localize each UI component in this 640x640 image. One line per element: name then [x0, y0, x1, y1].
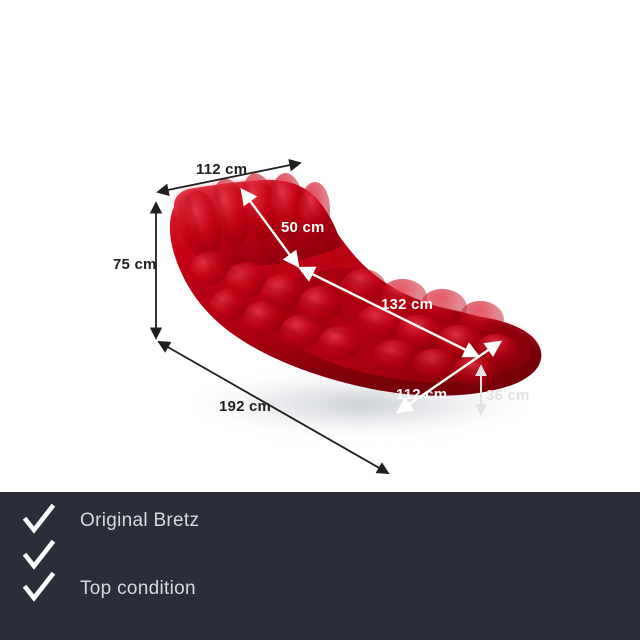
- checkmark-icon: [22, 540, 56, 574]
- product-listing-image: 112 cm 75 cm 192 cm 50 cm 132 cm 112 cm …: [0, 0, 640, 640]
- feature-item: Original Bretz: [22, 504, 199, 538]
- dimension-label-width-top: 112 cm: [196, 162, 247, 177]
- sofa-body: [170, 171, 541, 396]
- dimension-label-backrest: 50 cm: [281, 220, 325, 235]
- dimension-label-seat-width: 112 cm: [396, 387, 447, 402]
- feature-label: Top condition: [80, 578, 196, 600]
- dimension-label-length: 192 cm: [219, 399, 271, 414]
- dimension-label-seat-length: 132 cm: [381, 297, 433, 312]
- feature-label: Original Bretz: [80, 510, 199, 532]
- feature-item: Top condition: [22, 572, 196, 606]
- dimension-label-seat-height: 36 cm: [486, 388, 530, 403]
- checkmark-icon: [22, 572, 56, 606]
- feature-banner: Original Bretz Top condition: [0, 492, 640, 640]
- chaise-lounge-illustration: [0, 0, 640, 492]
- product-photo-with-dimensions: 112 cm 75 cm 192 cm 50 cm 132 cm 112 cm …: [0, 0, 640, 492]
- dimension-label-height: 75 cm: [113, 257, 157, 272]
- checkmark-icon: [22, 504, 56, 538]
- feature-item: [22, 540, 80, 574]
